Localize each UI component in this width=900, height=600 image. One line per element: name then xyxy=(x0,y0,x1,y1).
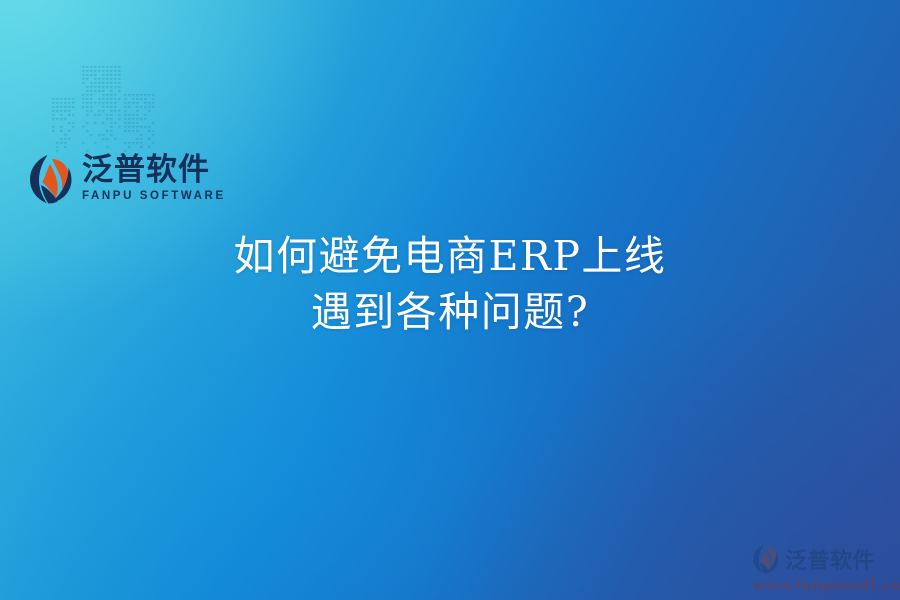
brand-logo-text: 泛普软件 FANPU SOFTWARE xyxy=(82,155,226,203)
dot-matrix-pattern xyxy=(46,64,158,156)
promo-banner: 泛普软件 FANPU SOFTWARE 如何避免电商ERP上线 遇到各种问题? … xyxy=(0,0,900,600)
fanpu-logo-mark xyxy=(28,154,74,204)
headline-line-1: 如何避免电商ERP上线 xyxy=(0,228,900,284)
brand-name-cn: 泛普软件 xyxy=(82,155,226,186)
brand-logo: 泛普软件 FANPU SOFTWARE xyxy=(28,154,226,204)
headline-line-2: 遇到各种问题? xyxy=(0,284,900,340)
headline: 如何避免电商ERP上线 遇到各种问题? xyxy=(0,228,900,340)
brand-name-en: FANPU SOFTWARE xyxy=(82,191,226,203)
